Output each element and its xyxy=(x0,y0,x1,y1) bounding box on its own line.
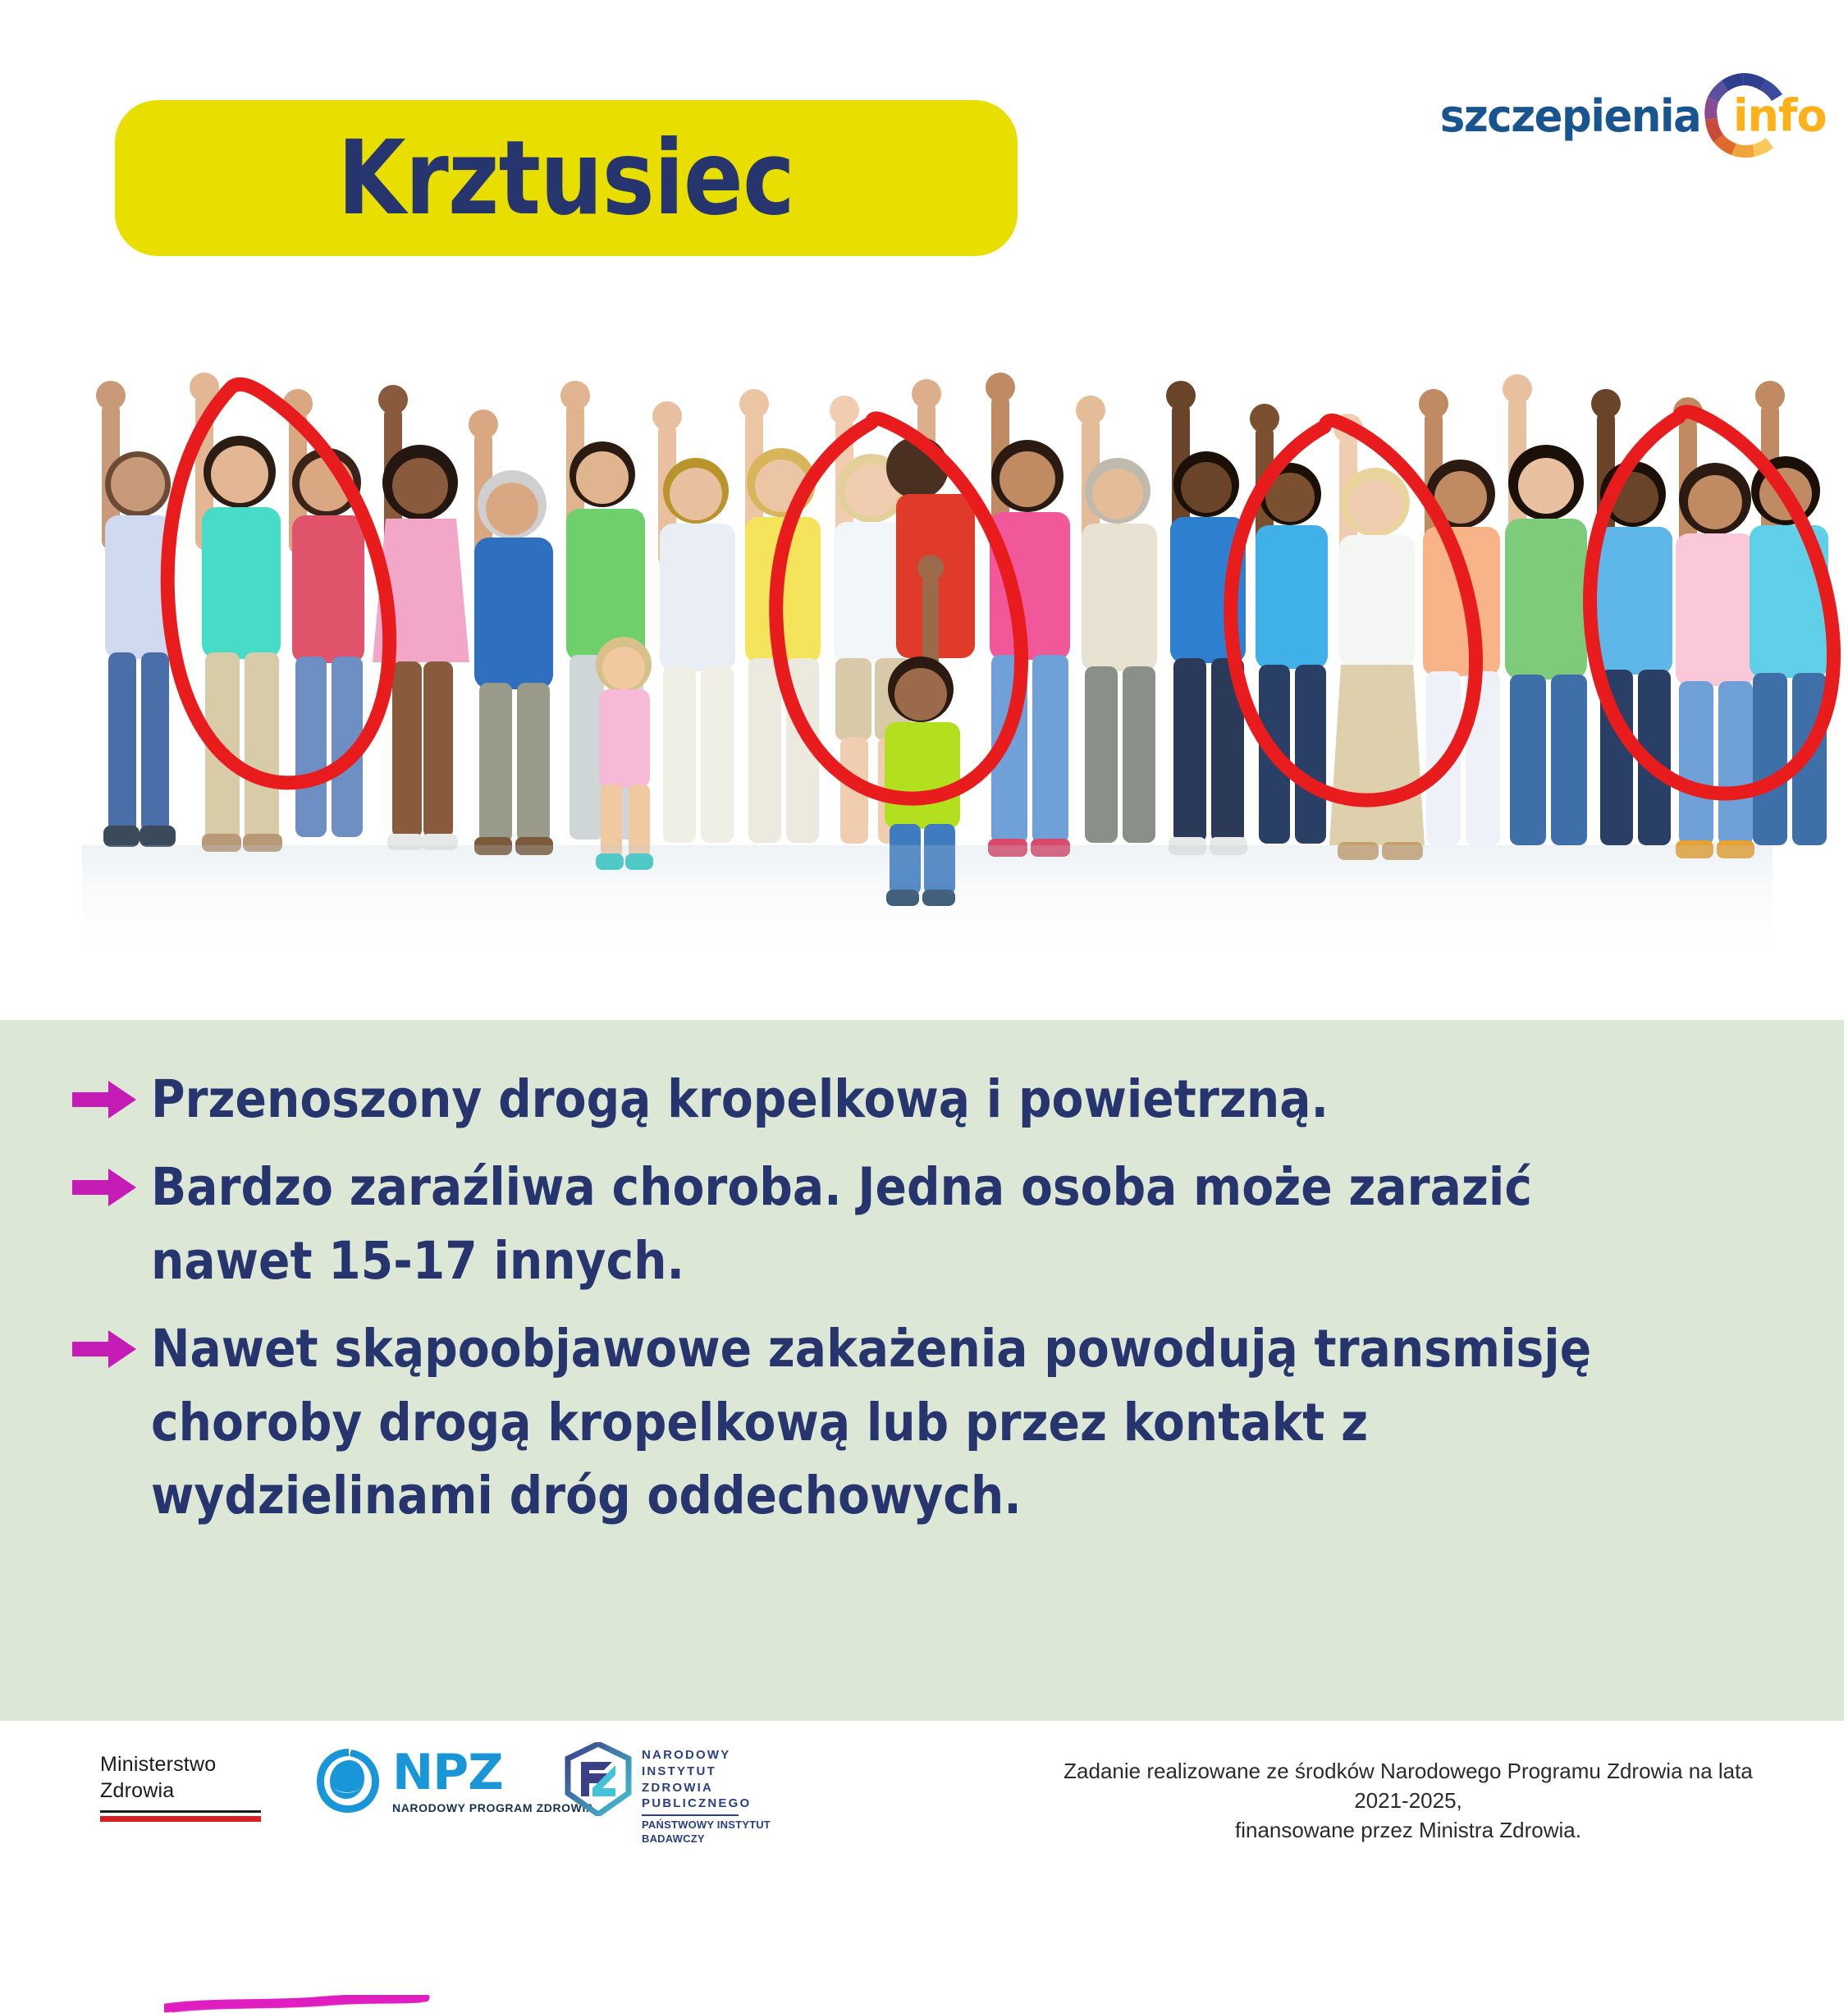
title-banner: Krztusiec xyxy=(115,100,1018,256)
list-item: Przenoszony drogą kropelkową i powietrzn… xyxy=(72,1063,1763,1136)
crowd-photo xyxy=(0,279,1848,1020)
credit-line-2: finansowane przez Ministra Zdrowia. xyxy=(1039,1816,1777,1846)
ministry-bar-black xyxy=(100,1810,261,1813)
pzh-sub-1: PAŃSTWOWY INSTYTUT xyxy=(642,1819,771,1832)
highlight-underline xyxy=(164,1995,435,2013)
footer: Ministerstwo Zdrowia NPZ NARODOWY PROGRA… xyxy=(0,1721,1848,1850)
bullet-list: Przenoszony drogą kropelkową i powietrzn… xyxy=(72,1063,1763,1548)
credit-line-1: Zadanie realizowane ze środków Narodoweg… xyxy=(1039,1757,1777,1816)
ministry-line-1: Ministerstwo xyxy=(100,1752,289,1778)
ministry-line-2: Zdrowia xyxy=(100,1778,289,1805)
list-item: Nawet skąpoobjawowe zakażenia powodują t… xyxy=(72,1312,1763,1532)
facts-panel: Przenoszony drogą kropelkową i powietrzn… xyxy=(0,1020,1844,1721)
bullet-text: Nawet skąpoobjawowe zakażenia powodują t… xyxy=(151,1312,1602,1532)
brand-ring-icon: info xyxy=(1695,67,1800,164)
arrow-right-icon xyxy=(72,1063,151,1123)
pzh-sub-2: BADAWCZY xyxy=(642,1832,771,1846)
pzh-line-4: PUBLICZNEGO xyxy=(642,1796,771,1812)
annotation-circles xyxy=(0,279,1848,1020)
funding-credit: Zadanie realizowane ze środków Narodoweg… xyxy=(1039,1757,1777,1846)
npz-logo: NPZ NARODOWY PROGRAM ZDROWIA xyxy=(313,1745,595,1816)
arrow-right-icon xyxy=(72,1312,151,1372)
brand-info-word: info xyxy=(1733,90,1827,142)
pzh-line-2: INSTYTUT xyxy=(642,1764,771,1780)
page-title: Krztusiec xyxy=(338,127,795,230)
ministry-of-health-logo: Ministerstwo Zdrowia xyxy=(100,1752,289,1822)
list-item: Bardzo zaraźliwa choroba. Jedna osoba mo… xyxy=(72,1151,1763,1297)
brand-wordmark: szczepienia xyxy=(1439,90,1700,142)
pzh-line-3: ZDROWIA xyxy=(642,1780,771,1796)
bullet-text: Przenoszony drogą kropelkową i powietrzn… xyxy=(151,1063,1602,1136)
szczepienia-info-logo[interactable]: szczepienia info xyxy=(1426,80,1800,151)
ministry-bar-red xyxy=(100,1816,261,1822)
npz-mark-icon xyxy=(313,1745,384,1816)
pzh-mark-icon xyxy=(565,1742,632,1816)
header: Krztusiec szczepienia info xyxy=(0,0,1848,279)
pzh-logo: NARODOWY INSTYTUT ZDROWIA PUBLICZNEGO PA… xyxy=(565,1742,771,1846)
pzh-line-1: NARODOWY xyxy=(642,1747,771,1764)
arrow-right-icon xyxy=(72,1151,151,1210)
bullet-text: Bardzo zaraźliwa choroba. Jedna osoba mo… xyxy=(151,1151,1602,1297)
pzh-divider xyxy=(642,1814,739,1816)
